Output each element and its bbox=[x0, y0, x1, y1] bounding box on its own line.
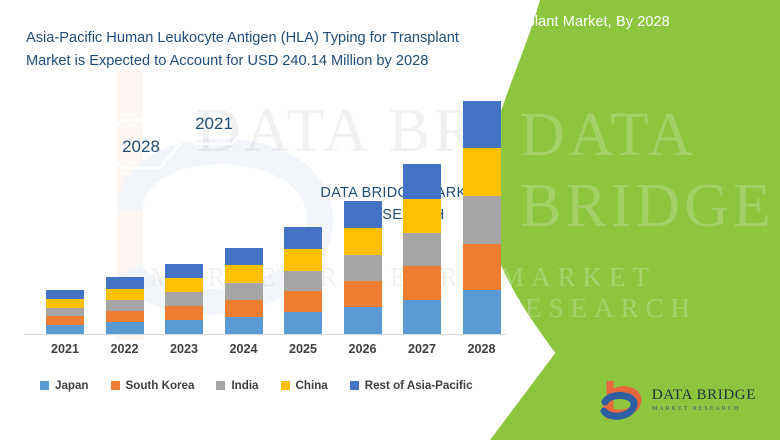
bar-segment-china bbox=[165, 278, 203, 292]
x-axis-label-2025: 2025 bbox=[273, 342, 333, 356]
bar-segment-india bbox=[403, 233, 441, 266]
bar-segment-china bbox=[463, 148, 501, 196]
dbmr-logo-title: DATA BRIDGE bbox=[652, 388, 756, 403]
bar-segment-south-korea bbox=[106, 311, 144, 322]
bar-segment-india bbox=[284, 271, 322, 292]
legend-item-china[interactable]: China bbox=[281, 379, 328, 392]
bar-segment-india bbox=[344, 255, 382, 281]
bar-2025 bbox=[284, 227, 322, 334]
bar-segment-japan bbox=[106, 322, 144, 334]
bar-segment-india bbox=[463, 196, 501, 243]
chart-title: Asia-Pacific Human Leukocyte Antigen (HL… bbox=[26, 27, 506, 73]
bar-2024 bbox=[225, 248, 263, 334]
dbmr-logo-mark bbox=[598, 378, 644, 422]
legend-swatch-icon bbox=[111, 381, 120, 390]
bar-segment-rest-of-asia-pacific bbox=[344, 201, 382, 228]
bar-segment-rest-of-asia-pacific bbox=[165, 264, 203, 278]
bar-segment-india bbox=[106, 300, 144, 311]
bar-segment-south-korea bbox=[344, 281, 382, 307]
bar-segment-china bbox=[403, 199, 441, 233]
bar-segment-china bbox=[225, 265, 263, 282]
bar-segment-japan bbox=[46, 325, 84, 334]
x-axis-label-2023: 2023 bbox=[154, 342, 214, 356]
bar-segment-japan bbox=[284, 312, 322, 334]
legend-swatch-icon bbox=[40, 381, 49, 390]
x-axis-label-2028: 2028 bbox=[452, 342, 512, 356]
bar-segment-rest-of-asia-pacific bbox=[284, 227, 322, 249]
bar-segment-south-korea bbox=[284, 291, 322, 312]
infographic-canvas: DATA BRIDGE MARKET RESEARCH DATA BRIDGE … bbox=[0, 0, 780, 440]
bar-segment-rest-of-asia-pacific bbox=[403, 164, 441, 198]
chart-legend: JapanSouth KoreaIndiaChinaRest of Asia-P… bbox=[40, 375, 510, 395]
x-axis-label-2022: 2022 bbox=[95, 342, 155, 356]
bar-segment-china bbox=[344, 228, 382, 255]
bar-2027 bbox=[403, 164, 441, 334]
plot-area bbox=[0, 95, 520, 340]
bar-segment-south-korea bbox=[463, 244, 501, 290]
bar-segment-japan bbox=[225, 317, 263, 334]
bar-segment-india bbox=[46, 308, 84, 316]
legend-swatch-icon bbox=[350, 381, 359, 390]
bar-segment-rest-of-asia-pacific bbox=[46, 290, 84, 299]
bar-segment-china bbox=[106, 289, 144, 301]
legend-label: India bbox=[231, 379, 258, 392]
x-axis-label-2024: 2024 bbox=[214, 342, 274, 356]
bar-segment-india bbox=[165, 292, 203, 306]
bar-segment-china bbox=[284, 249, 322, 271]
bar-2028 bbox=[463, 101, 501, 334]
bar-segment-india bbox=[225, 283, 263, 300]
x-axis-labels: 20212022202320242025202620272028 bbox=[0, 342, 520, 364]
bar-segment-south-korea bbox=[46, 316, 84, 325]
x-axis-label-2021: 2021 bbox=[35, 342, 95, 356]
x-axis-label-2027: 2027 bbox=[392, 342, 452, 356]
bar-segment-rest-of-asia-pacific bbox=[463, 101, 501, 148]
bar-segment-rest-of-asia-pacific bbox=[225, 248, 263, 265]
bar-segment-china bbox=[46, 299, 84, 308]
legend-label: China bbox=[296, 379, 328, 392]
bar-segment-south-korea bbox=[403, 266, 441, 299]
legend-label: South Korea bbox=[126, 379, 195, 392]
legend-item-south-korea[interactable]: South Korea bbox=[111, 379, 195, 392]
legend-swatch-icon bbox=[281, 381, 290, 390]
dbmr-logo-subtitle: MARKET RESEARCH bbox=[652, 406, 756, 412]
bar-2023 bbox=[165, 264, 203, 334]
bar-segment-japan bbox=[463, 290, 501, 334]
bar-segment-japan bbox=[344, 307, 382, 334]
x-axis-label-2026: 2026 bbox=[333, 342, 393, 356]
bar-segment-japan bbox=[403, 300, 441, 334]
dbmr-logo: DATA BRIDGE MARKET RESEARCH bbox=[598, 378, 756, 422]
legend-label: Japan bbox=[55, 379, 89, 392]
legend-item-japan[interactable]: Japan bbox=[40, 379, 89, 392]
legend-item-rest-of-asia-pacific[interactable]: Rest of Asia-Pacific bbox=[350, 379, 473, 392]
bar-2022 bbox=[106, 277, 144, 334]
bar-segment-south-korea bbox=[225, 300, 263, 317]
legend-swatch-icon bbox=[216, 381, 225, 390]
legend-item-india[interactable]: India bbox=[216, 379, 258, 392]
bar-2026 bbox=[344, 201, 382, 334]
bar-segment-south-korea bbox=[165, 306, 203, 320]
bar-2021 bbox=[46, 290, 84, 334]
bar-segment-rest-of-asia-pacific bbox=[106, 277, 144, 289]
bar-segment-japan bbox=[165, 320, 203, 334]
x-axis-line bbox=[24, 334, 506, 335]
legend-label: Rest of Asia-Pacific bbox=[365, 379, 473, 392]
